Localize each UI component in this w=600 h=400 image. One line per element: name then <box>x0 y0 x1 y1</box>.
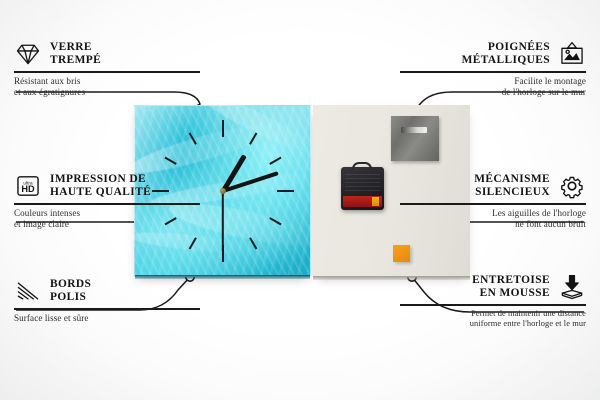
feature-title-line1: POIGNÉES <box>462 41 550 54</box>
feature-mecanisme-silencieux: MÉCANISME SILENCIEUX Les aiguilles de l'… <box>390 172 586 231</box>
feature-title-line2: EN MOUSSE <box>472 287 550 300</box>
feature-desc-line1: Surface lisse et sûre <box>14 313 210 325</box>
feature-title-line1: VERRE <box>50 41 101 54</box>
divider <box>400 304 586 306</box>
feature-title-line1: ENTRETOISE <box>472 274 550 287</box>
gear-icon <box>558 172 586 200</box>
feature-desc-line1: Facilite le montage <box>390 76 586 88</box>
mechanism-vents <box>345 174 380 192</box>
feature-poignees-metalliques: POIGNÉES MÉTALLIQUES Facilite le montage… <box>390 40 586 99</box>
feature-title-line2: TREMPÉ <box>50 54 101 67</box>
feature-title-line2: MÉTALLIQUES <box>462 54 550 67</box>
diamond-icon <box>14 40 42 68</box>
hanger-slot <box>401 127 427 133</box>
feature-entretoise-en-mousse: ENTRETOISE EN MOUSSE Permet de maintenir… <box>390 273 586 330</box>
divider <box>400 203 586 205</box>
clock-center-cap <box>220 188 226 194</box>
feature-title-line2: POLIS <box>50 291 91 304</box>
second-hand <box>222 191 224 251</box>
feature-desc-line1: Permet de maintenir une distance <box>390 309 586 320</box>
mechanism-hanger-loop <box>352 162 372 170</box>
feature-desc-line1: Couleurs intenses <box>14 208 210 220</box>
divider <box>400 71 586 73</box>
ultra-hd-badge-icon: ultra HD <box>14 172 42 200</box>
infographic-canvas: VERRE TREMPÉ Résistant aux bris et aux é… <box>0 0 600 400</box>
feature-impression-haute-qualite: ultra HD IMPRESSION DE HAUTE QUALITÉ Cou… <box>14 172 210 231</box>
polished-edge-lines-icon <box>14 277 42 305</box>
divider <box>14 203 200 205</box>
feature-desc-line1: Résistant aux bris <box>14 76 210 88</box>
clock-mechanism <box>341 167 384 210</box>
feature-bords-polis: BORDS POLIS Surface lisse et sûre <box>14 277 210 324</box>
feature-desc-line2: et aux égratignures <box>14 87 210 99</box>
framed-picture-hanging-icon <box>558 40 586 68</box>
ultra-hd-large-text: HD <box>21 184 35 194</box>
feature-title-line1: BORDS <box>50 278 91 291</box>
feature-desc-line2: uniforme entre l'horloge et le mur <box>390 319 586 330</box>
feature-desc-line1: Les aiguilles de l'horloge <box>390 208 586 220</box>
battery-label <box>343 196 382 207</box>
foam-spacer <box>393 245 410 262</box>
feature-title-line2: SILENCIEUX <box>474 186 550 199</box>
feature-desc-line2: de l'horloge sur le mur <box>390 87 586 99</box>
metal-hanger-plate <box>391 116 439 161</box>
feature-desc-line2: et image claire <box>14 219 210 231</box>
feature-verre-trempe: VERRE TREMPÉ Résistant aux bris et aux é… <box>14 40 210 99</box>
feature-title-line1: MÉCANISME <box>474 173 550 186</box>
feature-title-line1: IMPRESSION DE <box>50 173 151 186</box>
feature-title-line2: HAUTE QUALITÉ <box>50 186 151 199</box>
divider <box>14 71 200 73</box>
divider <box>14 308 200 310</box>
feature-desc-line2: ne font aucun bruit <box>390 219 586 231</box>
arrow-down-on-pad-icon <box>558 273 586 301</box>
